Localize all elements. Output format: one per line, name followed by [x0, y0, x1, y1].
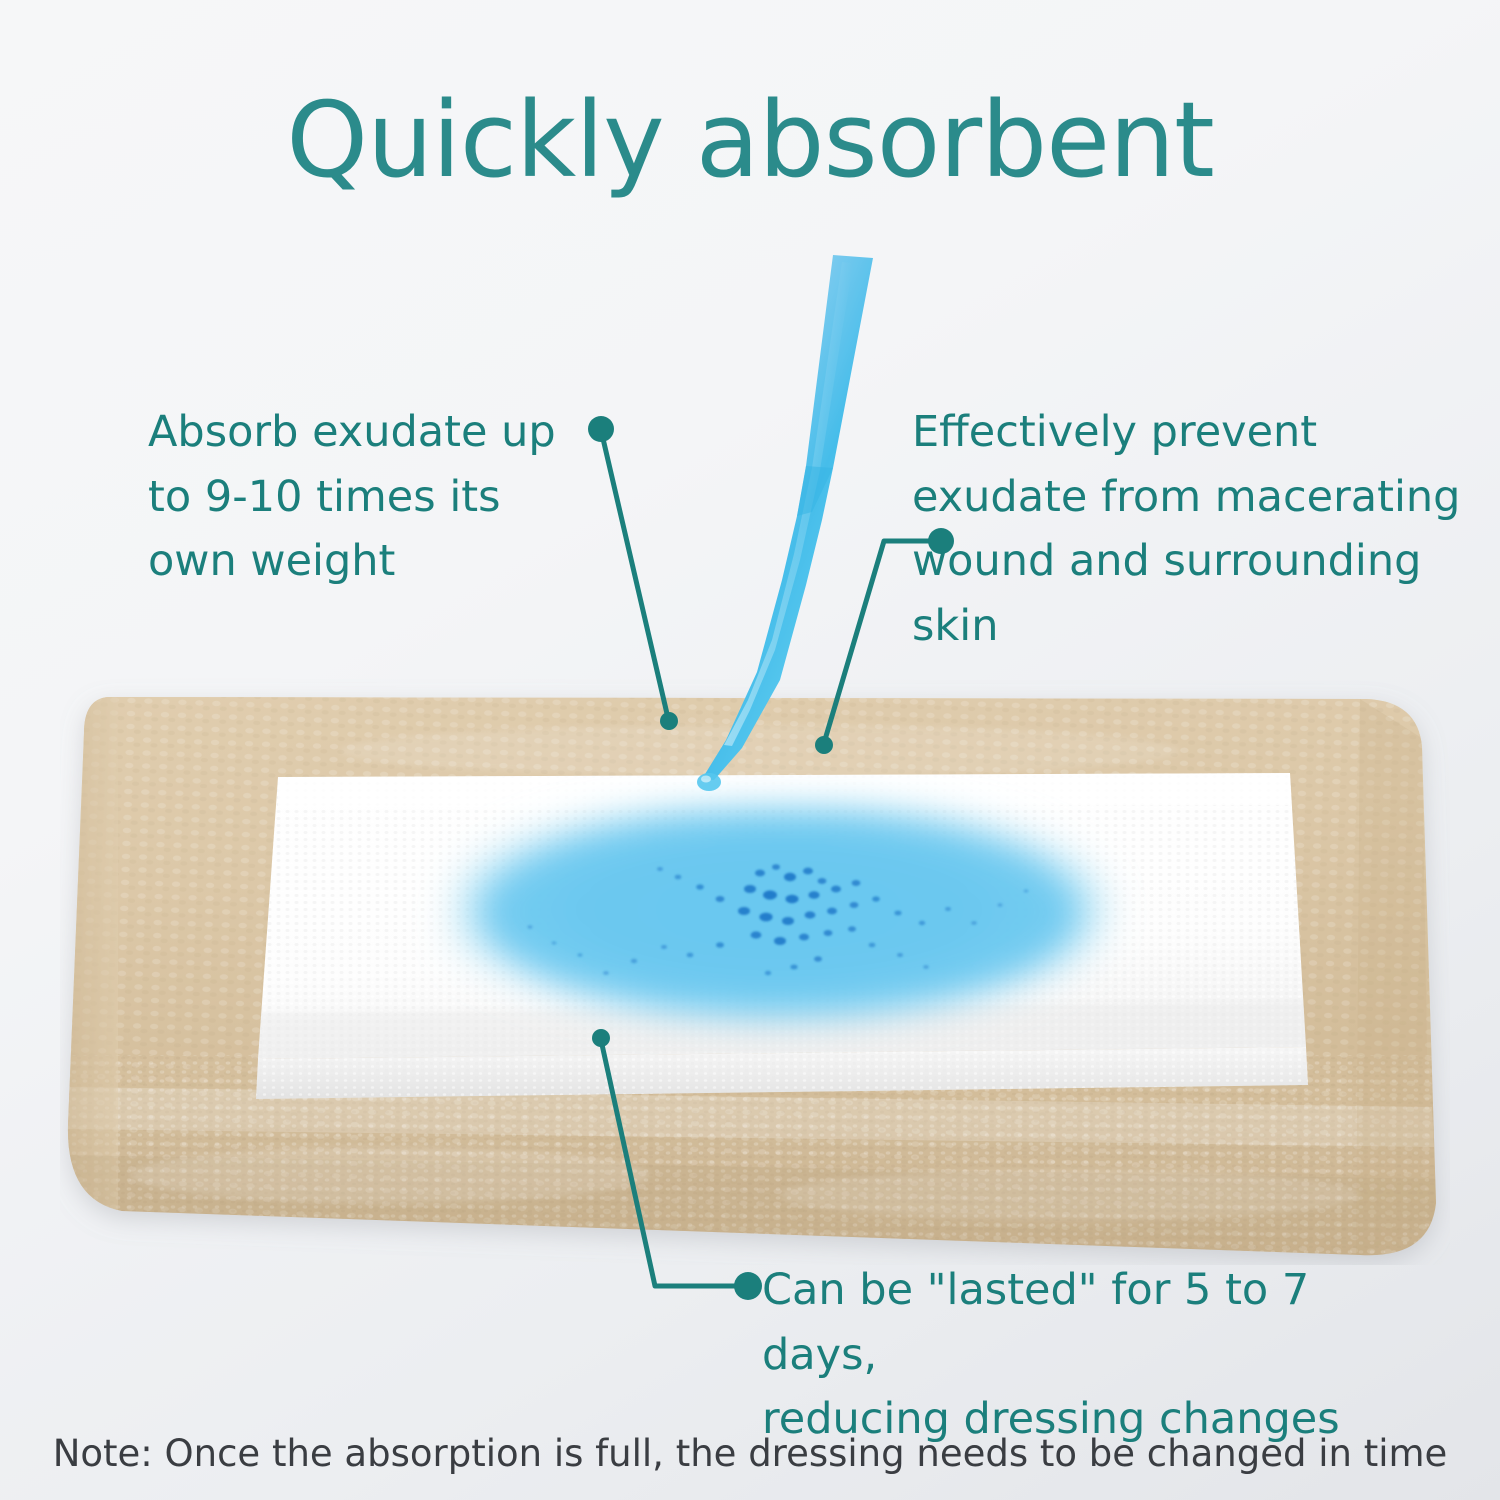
absorption-blob: [448, 805, 1110, 1024]
callout-absorb-capacity: Absorb exudate up to 9-10 times its own …: [148, 400, 618, 594]
callout-dot-icon-bottom-text: [734, 1272, 762, 1300]
footer-note: Note: Once the absorption is full, the d…: [0, 1432, 1500, 1475]
foam-pad: [240, 765, 1330, 1099]
page-title: Quickly absorbent: [0, 86, 1500, 195]
callout-prevent-maceration: Effectively prevent exudate from macerat…: [912, 400, 1492, 658]
product-illustration: [60, 655, 1450, 1265]
callout-wear-time: Can be "lasted" for 5 to 7 days, reducin…: [762, 1258, 1382, 1452]
infographic-stage: Quickly absorbent: [0, 0, 1500, 1500]
product-svg: [60, 655, 1450, 1265]
